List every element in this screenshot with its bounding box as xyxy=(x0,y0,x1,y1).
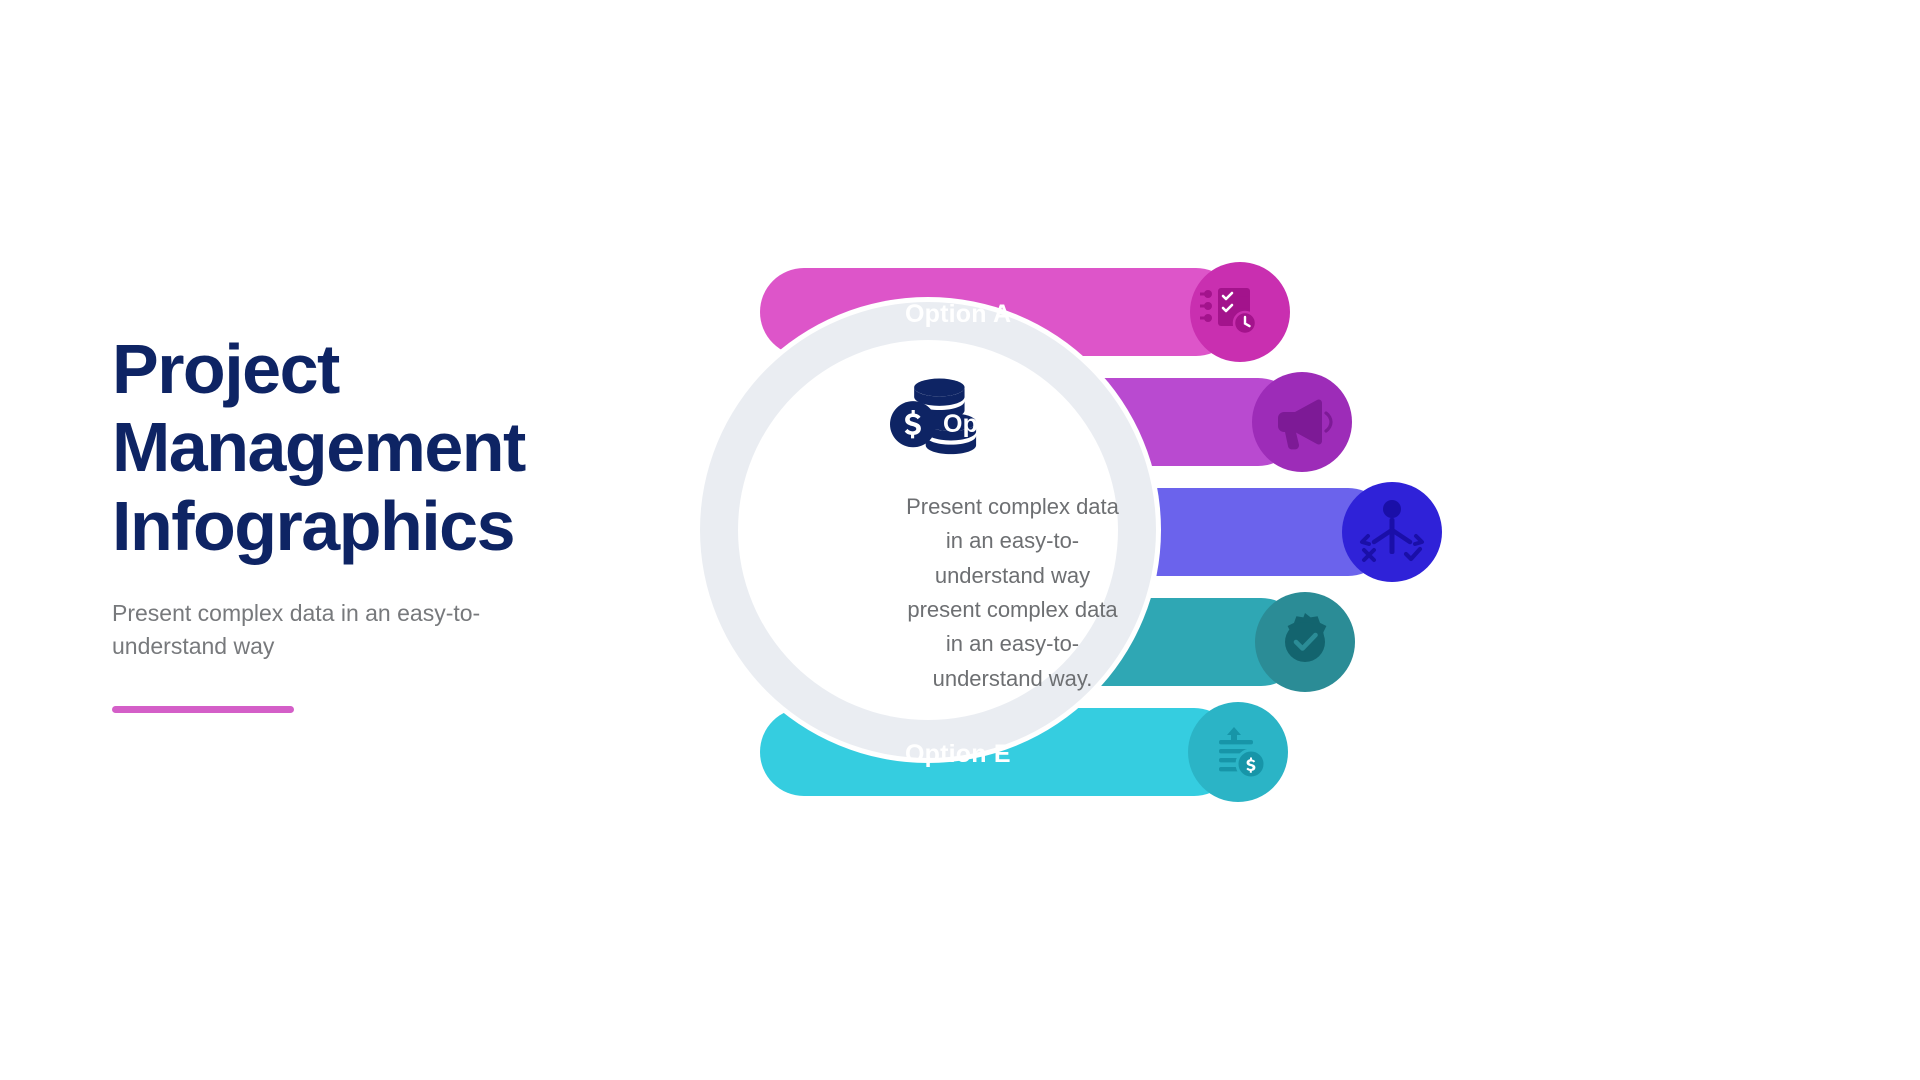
option-e-label: Option E xyxy=(905,740,1011,768)
option-b-label: Option B xyxy=(943,410,1050,438)
page-title: Project Management Infographics xyxy=(112,330,672,565)
options-diagram: Option A Option B xyxy=(700,230,1880,850)
accent-rule-divider xyxy=(112,706,294,713)
option-c-label: Option C xyxy=(995,520,1102,548)
page-subtitle: Present complex data in an easy-to-under… xyxy=(112,597,582,662)
infographic-slide: Project Management Infographics Present … xyxy=(0,0,1920,1080)
option-a-label: Option A xyxy=(905,300,1011,328)
option-d-label: Option D xyxy=(945,630,1052,658)
left-text-panel: Project Management Infographics Present … xyxy=(112,330,672,713)
